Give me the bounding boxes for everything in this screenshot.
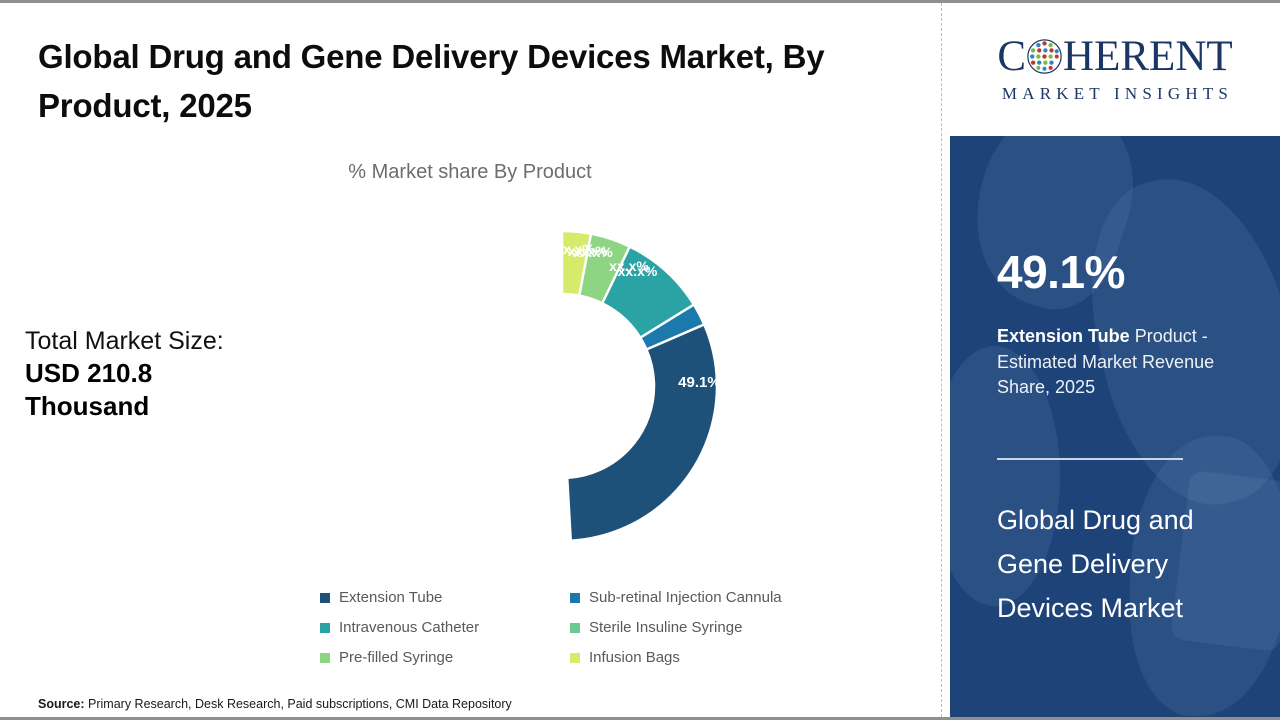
legend-label: Extension Tube (339, 589, 442, 606)
donut-chart: 49.1%xx.x%xx.x%xx.x%xx.x%xx.x% (398, 216, 726, 556)
market-size-value-line1: USD 210.8 (25, 357, 325, 390)
logo-word-rest: HERENT (1063, 35, 1233, 78)
donut-slice-label: xx.x% (555, 241, 595, 257)
stat-description-highlight: Extension Tube (997, 326, 1130, 346)
stat-panel: 49.1% Extension Tube Product - Estimated… (950, 136, 1280, 717)
left-content-panel: Global Drug and Gene Delivery Devices Ma… (0, 3, 940, 717)
legend-label: Sub-retinal Injection Cannula (589, 589, 782, 606)
logo-wordmark: C (997, 35, 1232, 78)
legend-swatch-icon (320, 653, 330, 663)
legend-item[interactable]: Intravenous Catheter (320, 619, 570, 636)
chart-legend: Extension TubeSub-retinal Injection Cann… (320, 589, 840, 666)
logo-letter-c: C (997, 35, 1026, 78)
total-market-size-block: Total Market Size: USD 210.8 Thousand (25, 325, 325, 424)
right-brand-panel: C (950, 3, 1280, 717)
infographic-root: Global Drug and Gene Delivery Devices Ma… (0, 0, 1280, 720)
source-text: Primary Research, Desk Research, Paid su… (85, 697, 512, 711)
legend-item[interactable]: Extension Tube (320, 589, 570, 606)
legend-item[interactable]: Infusion Bags (570, 649, 840, 666)
market-name: Global Drug and Gene Delivery Devices Ma… (997, 498, 1265, 630)
stat-value: 49.1% (997, 249, 1125, 295)
globe-icon (1027, 39, 1062, 74)
source-note: Source: Primary Research, Desk Research,… (38, 697, 512, 711)
legend-label: Intravenous Catheter (339, 619, 479, 636)
legend-item[interactable]: Pre-filled Syringe (320, 649, 570, 666)
legend-label: Pre-filled Syringe (339, 649, 453, 666)
legend-item[interactable]: Sterile Insuline Syringe (570, 619, 840, 636)
logo-tagline: MARKET INSIGHTS (997, 84, 1233, 104)
page-title: Global Drug and Gene Delivery Devices Ma… (38, 33, 898, 131)
legend-swatch-icon (570, 593, 580, 603)
legend-swatch-icon (320, 593, 330, 603)
legend-swatch-icon (570, 623, 580, 633)
donut-slice-label: xx.x% (609, 258, 649, 274)
legend-item[interactable]: Sub-retinal Injection Cannula (570, 589, 840, 606)
market-size-label: Total Market Size: (25, 325, 325, 357)
legend-swatch-icon (570, 653, 580, 663)
chart-subtitle: % Market share By Product (0, 161, 940, 184)
stat-description: Extension Tube Product - Estimated Marke… (997, 324, 1255, 401)
legend-swatch-icon (320, 623, 330, 633)
source-label: Source: (38, 697, 85, 711)
legend-label: Infusion Bags (589, 649, 680, 666)
donut-slice-label: 49.1% (678, 374, 721, 391)
company-logo: C (950, 3, 1280, 136)
donut-chart-svg: 49.1%xx.x%xx.x%xx.x%xx.x%xx.x% (398, 216, 726, 556)
stat-divider-rule (997, 458, 1183, 460)
legend-label: Sterile Insuline Syringe (589, 619, 742, 636)
stat-panel-content: 49.1% Extension Tube Product - Estimated… (950, 136, 1280, 717)
panel-divider (941, 3, 942, 717)
market-size-value-line2: Thousand (25, 390, 325, 423)
